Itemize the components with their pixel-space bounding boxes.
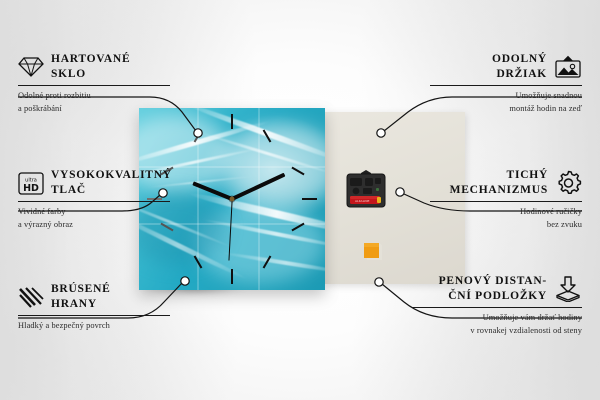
feature-title: ODOLNÝ DRŽIAK <box>492 52 547 82</box>
feature-tempered-glass: HARTOVANÉ SKLO Odolné proti rozbitiu a p… <box>18 52 170 115</box>
feature-description: Umožňuje snadnou montáž hodin na zeď <box>430 90 582 114</box>
feature-description: Umožňuje vám držať hodiny v rovnakej vzd… <box>412 312 582 336</box>
ground-edges-icon <box>18 286 44 308</box>
picture-hanger-icon <box>554 55 582 79</box>
feature-silent-mechanism: TICHÝ MECHANIZMUS Hodinové ručičky bez z… <box>430 168 582 231</box>
svg-text:HD: HD <box>23 183 39 194</box>
divider <box>18 315 170 316</box>
feature-title: HARTOVANÉ SKLO <box>51 52 130 82</box>
press-down-pads-icon <box>554 276 582 302</box>
feature-description: Hladký a bezpečný povrch <box>18 320 170 332</box>
divider <box>18 85 170 86</box>
feature-title: VYSOKOKVALITNÝ TLAČ <box>51 168 172 198</box>
feature-durable-hanger: ODOLNÝ DRŽIAK Umožňuje snadnou montáž ho… <box>430 52 582 115</box>
infographic-canvas: ALKALINE <box>0 0 600 400</box>
feature-title: BRÚSENÉ HRANY <box>51 282 111 312</box>
feature-title: PENOVÝ DISTAN- ČNÍ PODLOŽKY <box>439 274 547 304</box>
diamond-icon <box>18 56 44 78</box>
feature-title: TICHÝ MECHANIZMUS <box>450 168 548 198</box>
divider <box>430 85 582 86</box>
feature-description: Odolné proti rozbitiu a poškrábání <box>18 90 170 114</box>
divider <box>412 307 582 308</box>
ultra-hd-badge-icon: ultra HD <box>18 172 44 195</box>
feature-description: Vividné farby a výrazný obraz <box>18 206 170 230</box>
feature-description: Hodinové ručičky bez zvuku <box>430 206 582 230</box>
feature-foam-spacers: PENOVÝ DISTAN- ČNÍ PODLOŽKY Umožňuje vám… <box>412 274 582 337</box>
divider <box>18 201 170 202</box>
feature-high-quality-print: ultra HD VYSOKOKVALITNÝ TLAČ Vividné far… <box>18 168 170 231</box>
divider <box>430 201 582 202</box>
gear-icon <box>555 170 582 196</box>
feature-ground-edges: BRÚSENÉ HRANY Hladký a bezpečný povrch <box>18 282 170 333</box>
